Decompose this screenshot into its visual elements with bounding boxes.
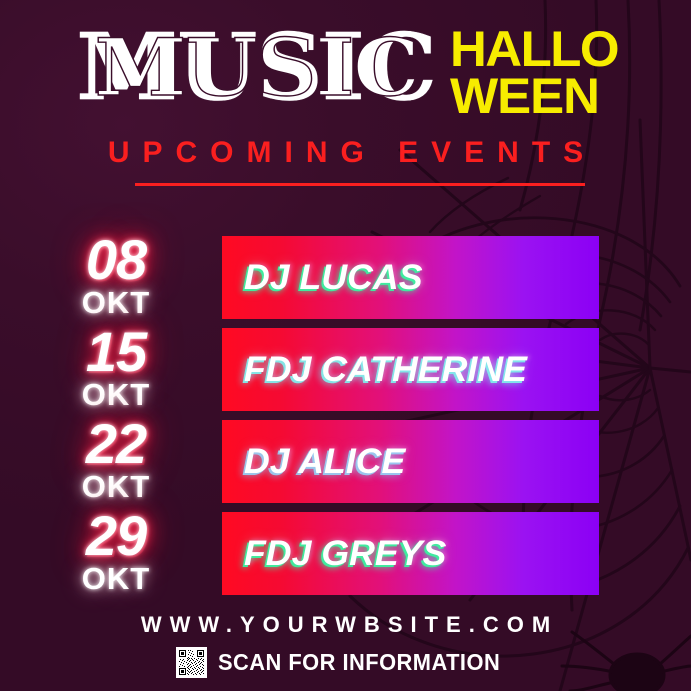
title-row: MUSIC MUSIC HALLO WEEN xyxy=(0,22,691,120)
list-item[interactable]: 22 OKT DJ ALICE xyxy=(0,420,691,503)
event-month: OKT xyxy=(82,379,150,410)
scan-row: SCAN FOR INFORMATION xyxy=(0,647,691,678)
subtitle-underline xyxy=(135,183,585,186)
subtitle-row: UPCOMING EVENTS xyxy=(0,136,691,170)
halloween-wordmark: HALLO WEEN xyxy=(450,26,615,120)
list-item[interactable]: 29 OKT FDJ GREYS xyxy=(0,512,691,595)
event-day: 15 xyxy=(86,329,146,375)
scan-label: SCAN FOR INFORMATION xyxy=(218,649,500,676)
poster-footer: WWW.YOURWBSITE.COM xyxy=(0,612,691,678)
event-date: 15 OKT xyxy=(0,328,222,411)
subtitle: UPCOMING EVENTS xyxy=(95,136,596,170)
halloween-music-poster: MUSIC MUSIC HALLO WEEN UPCOMING EVENTS 0… xyxy=(0,0,691,691)
event-artist: DJ ALICE xyxy=(244,442,405,482)
event-bar[interactable]: FDJ CATHERINE xyxy=(222,328,599,411)
poster-header: MUSIC MUSIC HALLO WEEN UPCOMING EVENTS xyxy=(0,0,691,200)
event-day: 29 xyxy=(86,513,146,559)
halloween-line-1: HALLO xyxy=(450,26,618,73)
event-day: 22 xyxy=(86,421,146,467)
event-month: OKT xyxy=(82,563,150,594)
event-date: 08 OKT xyxy=(0,236,222,319)
event-artist: FDJ GREYS xyxy=(244,534,446,574)
event-day: 08 xyxy=(86,237,146,283)
event-bar[interactable]: DJ ALICE xyxy=(222,420,599,503)
qr-code-icon[interactable] xyxy=(176,647,207,678)
event-month: OKT xyxy=(82,287,150,318)
event-bar[interactable]: FDJ GREYS xyxy=(222,512,599,595)
event-list: 08 OKT DJ LUCAS 15 OKT FDJ CATHERINE 22 … xyxy=(0,236,691,604)
event-bar[interactable]: DJ LUCAS xyxy=(222,236,599,319)
halloween-line-2: WEEN xyxy=(450,73,599,120)
event-artist: FDJ CATHERINE xyxy=(244,350,527,390)
event-date: 22 OKT xyxy=(0,420,222,503)
event-artist: DJ LUCAS xyxy=(244,258,423,298)
list-item[interactable]: 15 OKT FDJ CATHERINE xyxy=(0,328,691,411)
event-month: OKT xyxy=(82,471,150,502)
page-title: MUSIC MUSIC xyxy=(76,22,450,112)
event-date: 29 OKT xyxy=(0,512,222,595)
website-url[interactable]: WWW.YOURWBSITE.COM xyxy=(0,612,691,638)
list-item[interactable]: 08 OKT DJ LUCAS xyxy=(0,236,691,319)
page-title-text: MUSIC xyxy=(76,13,436,121)
